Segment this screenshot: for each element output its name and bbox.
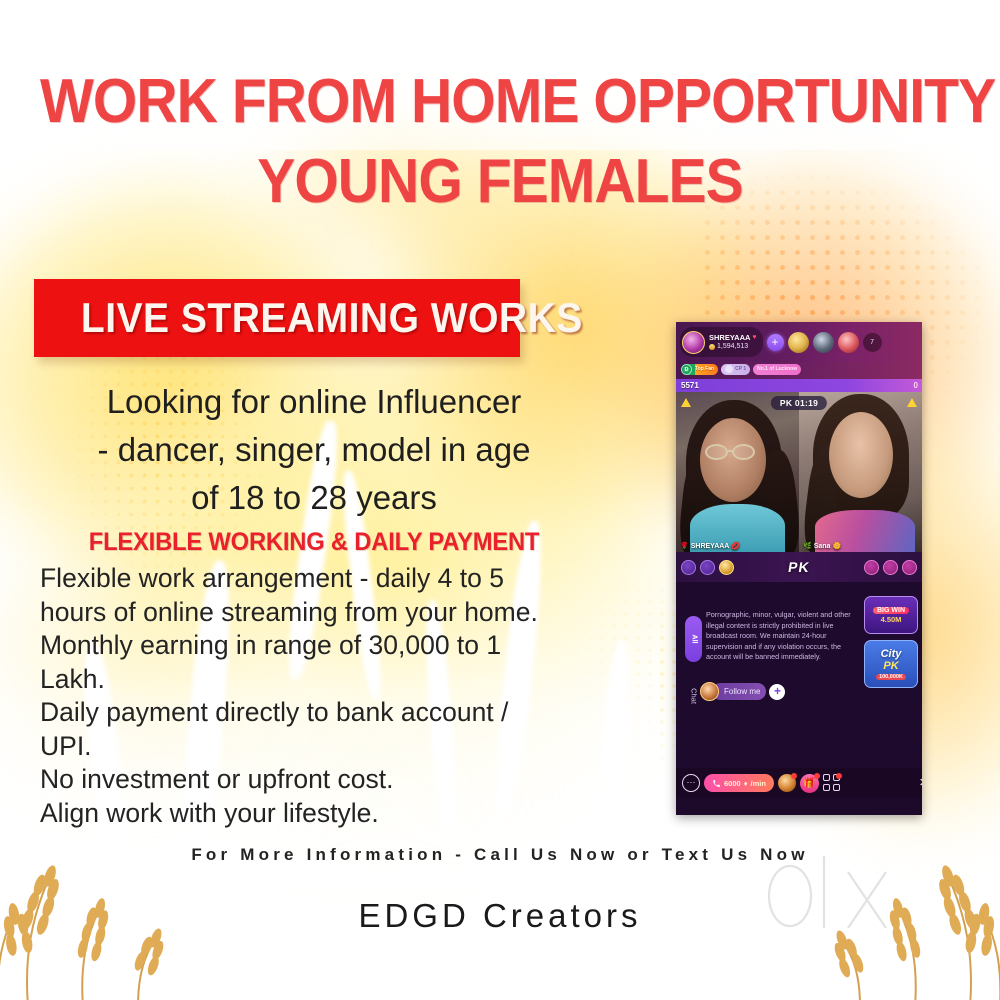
supporter-avatar[interactable]: [681, 560, 696, 575]
leaf-icon: 🌿: [803, 542, 812, 550]
cp-badge[interactable]: CP 1: [721, 364, 750, 375]
supporter-avatar[interactable]: [700, 560, 715, 575]
host-coin-count: 1,594,513: [717, 343, 748, 350]
city-pk-line2: PK: [883, 660, 898, 672]
lead-line-2: - dancer, singer, model in age: [34, 426, 594, 474]
body-line-6: UPI.: [40, 730, 620, 764]
body-line-4: Lakh.: [40, 663, 620, 697]
follow-add-button[interactable]: +: [769, 684, 785, 700]
live-streaming-banner: LIVE STREAMING WORKS: [34, 279, 520, 357]
top-fan-label: Top Fan: [695, 366, 714, 372]
content-policy-warning: Pornographic, minor, vulgar, violent and…: [706, 610, 861, 663]
city-pk-promo-badge[interactable]: City PK 100,000K: [864, 640, 918, 688]
supporter-avatar[interactable]: [864, 560, 879, 575]
body-line-3: Monthly earning in range of 30,000 to 1: [40, 629, 620, 663]
banner-label: LIVE STREAMING WORKS: [81, 294, 583, 342]
rank-badge[interactable]: No.1 of Lucknow: [753, 364, 801, 375]
advertisement-poster: WORK FROM HOME OPPORTUNITY FOR YOUNG FEM…: [0, 0, 1000, 1000]
more-apps-grid-icon[interactable]: [823, 774, 841, 792]
body-line-1: Flexible work arrangement - daily 4 to 5: [40, 562, 620, 596]
host-name: SHREYAAA: [709, 334, 750, 342]
big-win-title: BIG WIN: [873, 607, 909, 614]
city-pk-line1: City: [881, 649, 902, 660]
right-streamer-video[interactable]: 🌿 Sana 🌼: [799, 392, 922, 552]
call-rate-unit: /min: [751, 779, 766, 788]
body-line-8: Align work with your lifestyle.: [40, 797, 620, 831]
body-line-5: Daily payment directly to bank account /: [40, 696, 620, 730]
notification-dot: [791, 773, 797, 779]
lead-line-3: of 18 to 28 years: [34, 474, 594, 522]
glasses-icon: [732, 444, 755, 460]
level-badge: D: [681, 364, 692, 375]
glasses-icon: [705, 444, 728, 460]
follow-avatar: [700, 682, 719, 701]
cp-label: CP 1: [735, 366, 746, 372]
top-supporter-avatar[interactable]: [719, 560, 734, 575]
follow-host-button[interactable]: +: [767, 334, 784, 351]
cp-icon: [725, 365, 733, 373]
diamond-icon: ♦: [744, 779, 748, 788]
subheading: FLEXIBLE WORKING & DAILY PAYMENT: [48, 528, 580, 557]
live-stream-app-screenshot: SHREYAAA ♥ 1,594,513 + 7: [676, 322, 922, 815]
big-win-amount: 4.50M: [881, 615, 902, 624]
host-badge-row: D Top Fan CP 1 No.1 of Lucknow: [676, 362, 922, 379]
warning-triangle-icon: [681, 398, 691, 407]
coin-icon: [709, 344, 715, 350]
pk-score-right: 0: [914, 381, 918, 390]
notification-dot: [814, 773, 820, 779]
host-info-card[interactable]: SHREYAAA ♥ 1,594,513: [680, 327, 763, 357]
heart-icon: ♥: [752, 334, 756, 341]
face-shape: [829, 412, 893, 498]
rank-label: No.1 of Lucknow: [757, 366, 797, 372]
lead-line-1: Looking for online Influencer: [34, 378, 594, 426]
stream-chat-area: All Chat Pornographic, minor, vulgar, vi…: [676, 582, 922, 798]
treasure-chest-icon[interactable]: [778, 774, 796, 792]
pk-timer: PK 01:19: [771, 396, 827, 410]
left-streamer-name: SHREYAAA: [691, 543, 730, 550]
lips-icon: 💋: [731, 542, 740, 550]
top-fan-badge[interactable]: D Top Fan: [681, 364, 718, 375]
pk-supporter-row: PK: [676, 552, 922, 582]
olx-watermark: [762, 846, 892, 941]
glasses-bridge: [728, 450, 733, 452]
call-rate-button[interactable]: 6000 ♦ /min: [704, 774, 774, 792]
lead-paragraph: Looking for online Influencer - dancer, …: [34, 378, 594, 522]
chat-bubble-icon[interactable]: ⋯: [682, 774, 700, 792]
follow-me-row[interactable]: Follow me +: [700, 682, 785, 701]
notification-dot: [836, 773, 842, 779]
rose-icon: 🌹: [680, 542, 689, 550]
big-win-promo-badge[interactable]: BIG WIN 4.50M: [864, 596, 918, 634]
supporter-avatar[interactable]: [883, 560, 898, 575]
pk-video-area: 🌹 SHREYAAA 💋 🌿 Sana 🌼 PK 01:19: [676, 392, 922, 552]
viewer-avatar[interactable]: [788, 332, 809, 353]
right-streamer-nametag: 🌿 Sana 🌼: [803, 542, 841, 550]
stream-bottom-toolbar: ⋯ 6000 ♦ /min 🎁 ×: [676, 768, 922, 798]
close-icon[interactable]: ×: [919, 774, 922, 792]
city-pk-amount: 100,000K: [876, 674, 906, 680]
flower-icon: 🌼: [832, 542, 841, 550]
phone-icon: [712, 779, 721, 788]
headline-line-2: YOUNG FEMALES: [40, 142, 960, 222]
viewer-avatar[interactable]: [838, 332, 859, 353]
gift-icon[interactable]: 🎁: [800, 774, 819, 793]
chat-filter-all-button[interactable]: All: [685, 616, 702, 662]
left-streamer-nametag: 🌹 SHREYAAA 💋: [680, 542, 740, 550]
left-streamer-video[interactable]: 🌹 SHREYAAA 💋: [676, 392, 799, 552]
poster-headline: WORK FROM HOME OPPORTUNITY FOR YOUNG FEM…: [0, 62, 1000, 222]
stream-top-bar: SHREYAAA ♥ 1,594,513 + 7: [676, 322, 922, 362]
pk-label: PK: [787, 559, 811, 575]
host-avatar: [682, 331, 705, 354]
headline-line-1: WORK FROM HOME OPPORTUNITY FOR: [40, 62, 960, 142]
warning-triangle-icon: [907, 398, 917, 407]
body-paragraph: Flexible work arrangement - daily 4 to 5…: [40, 562, 620, 830]
call-rate-value: 6000: [724, 779, 741, 788]
body-line-2: hours of online streaming from your home…: [40, 596, 620, 630]
pk-score-left: 5571: [681, 381, 699, 390]
viewer-avatar[interactable]: [813, 332, 834, 353]
face-shape: [700, 418, 766, 502]
pk-score-bar: 5571 0: [676, 379, 922, 392]
follow-me-label: Follow me: [712, 683, 766, 700]
right-streamer-name: Sana: [814, 543, 831, 550]
viewer-count-badge[interactable]: 7: [863, 333, 882, 352]
body-line-7: No investment or upfront cost.: [40, 763, 620, 797]
supporter-avatar[interactable]: [902, 560, 917, 575]
